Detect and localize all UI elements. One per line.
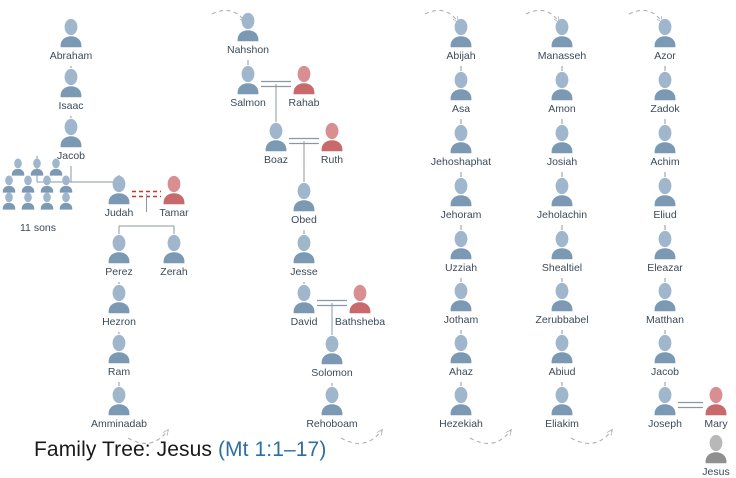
son-icon (39, 192, 55, 210)
person-icon-manasseh (549, 18, 575, 48)
person-label-tamar: Tamar (114, 207, 234, 219)
person-icon-jehoshaphat (448, 124, 474, 154)
person-label-eliud: Eliud (605, 209, 725, 221)
person-icon-ahaz (448, 334, 474, 364)
person-label-achim: Achim (605, 156, 725, 168)
person-label-eliakim: Eliakim (502, 418, 622, 430)
son-icon (20, 192, 36, 210)
person-icon-isaac (58, 68, 84, 98)
son-icon (1, 175, 17, 193)
person-label-abiud: Abiud (502, 366, 622, 378)
person-icon-amon (549, 71, 575, 101)
person-icon-hezekiah (448, 386, 474, 416)
person-label-rahab: Rahab (244, 97, 364, 109)
person-label-zerubbabel: Zerubbabel (502, 314, 622, 326)
person-icon-solomon (319, 335, 345, 365)
person-icon-bathsheba (347, 284, 373, 314)
person-label-jesse: Jesse (244, 266, 364, 278)
person-label-rehoboam: Rehoboam (272, 418, 392, 430)
person-label-ram: Ram (59, 366, 179, 378)
son-icon (39, 175, 55, 193)
person-label-nahshon: Nahshon (188, 44, 308, 56)
person-icon-david (291, 284, 317, 314)
person-icon-jotham (448, 282, 474, 312)
person-icon-tamar (161, 175, 187, 205)
person-label-zadok: Zadok (605, 103, 725, 115)
person-icon-jesse (291, 234, 317, 264)
person-icon-zadok (652, 71, 678, 101)
person-label-mary: Mary (656, 418, 736, 430)
person-icon-hezron (106, 284, 132, 314)
person-icon-jeholachin (549, 177, 575, 207)
person-icon-rehoboam (319, 386, 345, 416)
person-icon-azor (652, 18, 678, 48)
person-label-hezron: Hezron (59, 316, 179, 328)
person-label-amon: Amon (502, 103, 622, 115)
person-label-manasseh: Manasseh (502, 50, 622, 62)
person-icon-salmon (235, 65, 261, 95)
person-icon-eliud (652, 177, 678, 207)
cluster-label-eleven-sons: 11 sons (0, 222, 76, 234)
person-icon-jacob2 (652, 334, 678, 364)
page-title: Family Tree: Jesus (Mt 1:1–17) (34, 438, 326, 462)
person-label-abraham: Abraham (11, 50, 131, 62)
flow-rehoboam-out (341, 430, 382, 443)
son-icon (58, 175, 74, 193)
person-icon-rahab (291, 65, 317, 95)
son-icon (10, 158, 26, 176)
person-label-azor: Azor (605, 50, 725, 62)
family-tree-diagram: AbrahamIsaacJacobJudahTamarPerezZerahHez… (0, 0, 736, 473)
person-icon-asa (448, 71, 474, 101)
person-icon-achim (652, 124, 678, 154)
person-icon-judah (106, 175, 132, 205)
person-icon-amminadab (106, 386, 132, 416)
person-label-shealtiel: Shealtiel (502, 262, 622, 274)
son-icon (20, 175, 36, 193)
person-icon-matthan (652, 282, 678, 312)
person-label-amminadab: Amminadab (59, 418, 179, 430)
son-icon (1, 192, 17, 210)
person-icon-eleazar (652, 230, 678, 260)
person-icon-abiud (549, 334, 575, 364)
person-icon-joseph (652, 386, 678, 416)
son-icon (58, 192, 74, 210)
person-label-ruth: Ruth (272, 154, 392, 166)
person-label-eleazar: Eleazar (605, 262, 725, 274)
son-icon (48, 158, 64, 176)
person-label-isaac: Isaac (11, 100, 131, 112)
person-icon-zerah (161, 234, 187, 264)
person-icon-mary (703, 386, 729, 416)
person-label-matthan: Matthan (605, 314, 725, 326)
person-icon-boaz (263, 122, 289, 152)
person-icon-uzziah (448, 230, 474, 260)
person-icon-perez (106, 234, 132, 264)
person-icon-eliakim (549, 386, 575, 416)
person-icon-shealtiel (549, 230, 575, 260)
person-icon-abijah (448, 18, 474, 48)
person-icon-ruth (319, 122, 345, 152)
person-icon-jesus (703, 434, 729, 464)
person-icon-ram (106, 334, 132, 364)
son-icon (29, 158, 45, 176)
flow-eliakim-out (571, 430, 612, 443)
person-label-josiah: Josiah (502, 156, 622, 168)
person-icon-jacob (58, 118, 84, 148)
person-label-jacob2: Jacob (605, 366, 725, 378)
person-label-jeholachin: Jeholachin (502, 209, 622, 221)
person-icon-josiah (549, 124, 575, 154)
person-icon-nahshon (235, 12, 261, 42)
person-label-zerah: Zerah (114, 266, 234, 278)
person-icon-zerubbabel (549, 282, 575, 312)
person-label-solomon: Solomon (272, 367, 392, 379)
person-label-obed: Obed (244, 214, 364, 226)
person-label-jesus: Jesus (656, 466, 736, 478)
title-reference: (Mt 1:1–17) (218, 438, 326, 461)
person-icon-abraham (58, 18, 84, 48)
person-icon-obed (291, 182, 317, 212)
flow-hezekiah-out (470, 430, 511, 443)
title-main: Family Tree: Jesus (34, 438, 212, 461)
person-icon-jehoram (448, 177, 474, 207)
